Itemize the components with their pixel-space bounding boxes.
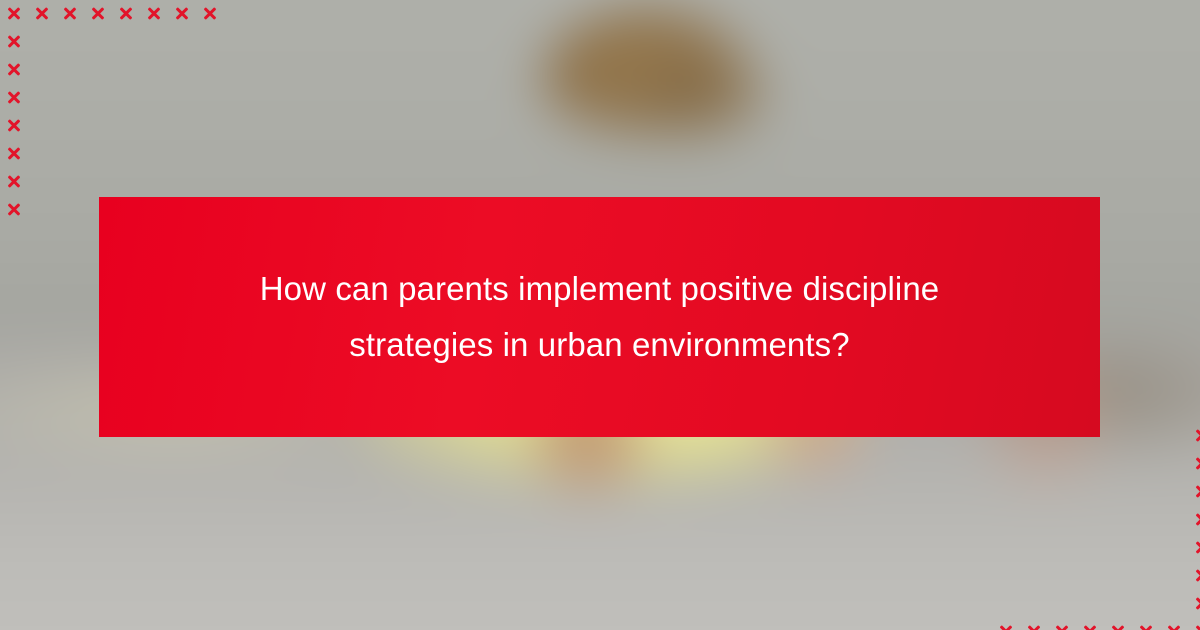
photo-child-hair-highlight [620,50,770,140]
question-banner: How can parents implement positive disci… [99,197,1100,437]
question-text: How can parents implement positive disci… [250,261,950,373]
poster-canvas: How can parents implement positive disci… [0,0,1200,630]
